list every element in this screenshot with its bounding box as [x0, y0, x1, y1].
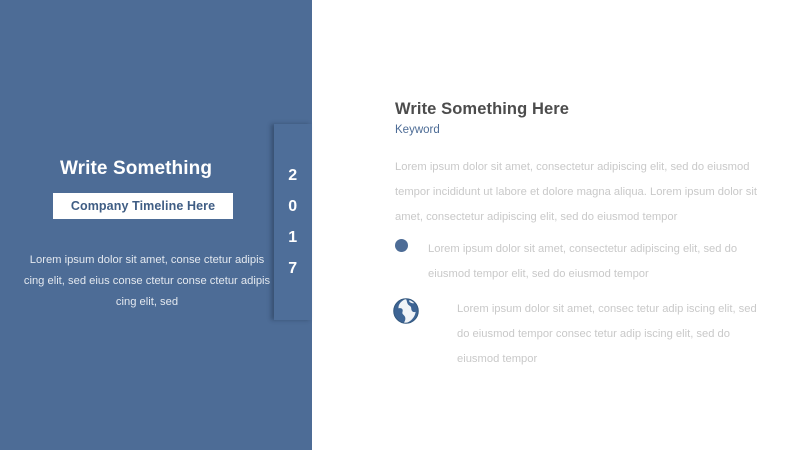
content-keyword: Keyword [395, 124, 440, 136]
company-timeline-button-label: Company Timeline Here [71, 199, 215, 213]
list-item: Lorem ipsum dolor sit amet, consec tetur… [392, 297, 792, 372]
year-digit-3: 1 [288, 222, 297, 253]
globe-icon [392, 297, 420, 325]
list-item-text: Lorem ipsum dolor sit amet, consec tetur… [457, 297, 757, 372]
list-item: Lorem ipsum dolor sit amet, consectetur … [395, 237, 790, 287]
left-panel-body-text: Lorem ipsum dolor sit amet, conse ctetur… [22, 250, 272, 313]
year-badge: 2 0 1 7 [274, 124, 312, 320]
year-digit-2: 0 [288, 191, 297, 222]
year-digit-4: 7 [288, 253, 297, 284]
company-timeline-button[interactable]: Company Timeline Here [53, 193, 233, 219]
content-paragraph: Lorem ipsum dolor sit amet, consectetur … [395, 155, 780, 230]
year-digit-1: 2 [288, 160, 297, 191]
right-content-panel: Write Something Here Keyword Lorem ipsum… [312, 0, 800, 450]
list-item-text: Lorem ipsum dolor sit amet, consectetur … [428, 237, 758, 287]
left-blue-panel: Write Something Company Timeline Here Lo… [0, 0, 312, 450]
bullet-dot-icon [395, 239, 408, 252]
left-panel-title: Write Something [0, 158, 272, 180]
content-title: Write Something Here [395, 100, 569, 119]
slide-canvas: Write Something Company Timeline Here Lo… [0, 0, 800, 450]
